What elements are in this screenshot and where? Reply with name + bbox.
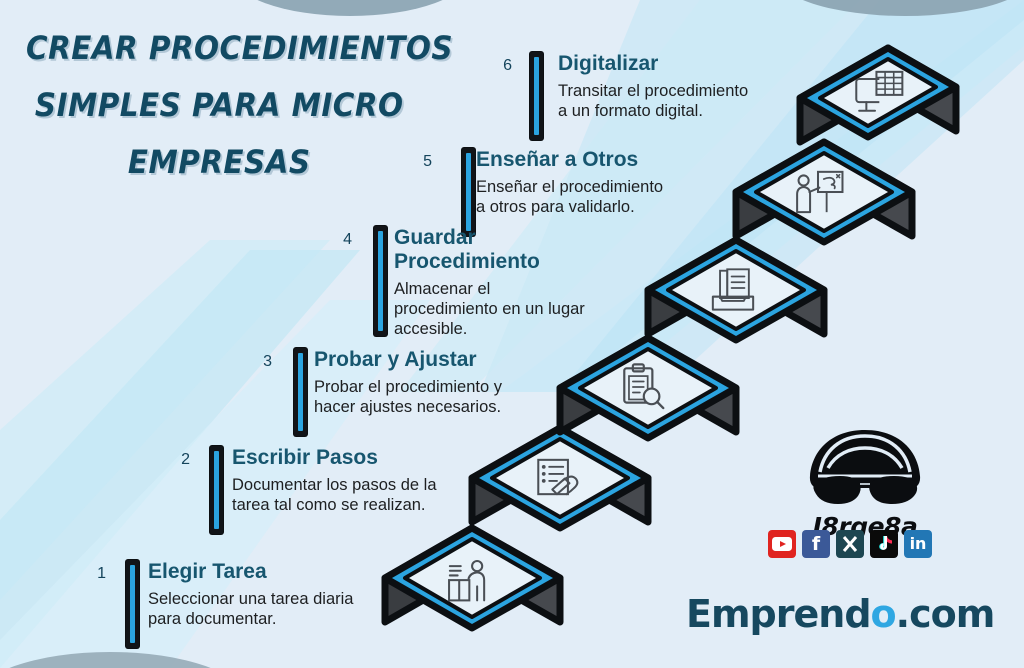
stair-step-4[interactable] bbox=[648, 240, 824, 340]
step-title-3: Probar y Ajustar bbox=[314, 348, 536, 372]
infographic-canvas: CREAR PROCEDIMIENTOS SIMPLES PARA MICRO … bbox=[0, 0, 1024, 668]
step-title-6: Digitalizar bbox=[558, 52, 758, 76]
linkedin-icon[interactable]: in bbox=[904, 530, 932, 558]
step-divider-bar-5 bbox=[462, 148, 475, 236]
step-desc-5: Enseñar el procedimiento a otros para va… bbox=[476, 177, 691, 217]
tiktok-icon[interactable] bbox=[870, 530, 898, 558]
step-title-4: Guardar Procedimiento bbox=[394, 226, 614, 274]
stair-step-5[interactable] bbox=[736, 142, 912, 242]
x-twitter-icon[interactable] bbox=[836, 530, 864, 558]
facebook-icon[interactable]: f bbox=[802, 530, 830, 558]
stair-step-3[interactable] bbox=[560, 338, 736, 438]
stair-step-6[interactable] bbox=[800, 48, 956, 142]
step-number-6: 6 bbox=[488, 57, 512, 75]
step-divider-bar-6 bbox=[530, 52, 543, 140]
step-title-5: Enseñar a Otros bbox=[476, 148, 691, 172]
step-desc-4: Almacenar el procedimiento en un lugar a… bbox=[394, 279, 614, 339]
step-divider-bar-1 bbox=[126, 560, 139, 648]
step-title-1: Elegir Tarea bbox=[148, 560, 373, 584]
step-number-4: 4 bbox=[328, 231, 352, 249]
site-name-pre: Emprend bbox=[686, 592, 871, 636]
cap-sunglasses-icon bbox=[780, 424, 950, 514]
step-desc-3: Probar el procedimiento y hacer ajustes … bbox=[314, 377, 536, 417]
site-logo[interactable]: Emprendo.com bbox=[686, 592, 994, 636]
step-desc-2: Documentar los pasos de la tarea tal com… bbox=[232, 475, 457, 515]
step-desc-6: Transitar el procedimiento a un formato … bbox=[558, 81, 758, 121]
step-title-2: Escribir Pasos bbox=[232, 446, 457, 470]
step-number-3: 3 bbox=[248, 353, 272, 371]
step-divider-bar-3 bbox=[294, 348, 307, 436]
step-number-5: 5 bbox=[408, 153, 432, 171]
site-name-post: .com bbox=[896, 592, 995, 636]
stair-step-1[interactable] bbox=[385, 528, 560, 628]
stair-step-2[interactable] bbox=[472, 428, 648, 528]
step-number-1: 1 bbox=[82, 565, 106, 583]
social-links[interactable]: f in bbox=[768, 530, 964, 558]
site-name-accent-o: o bbox=[871, 592, 896, 636]
step-desc-1: Seleccionar una tarea diaria para docume… bbox=[148, 589, 373, 629]
step-divider-bar-4 bbox=[374, 226, 387, 336]
step-number-2: 2 bbox=[166, 451, 190, 469]
youtube-icon[interactable] bbox=[768, 530, 796, 558]
step-divider-bar-2 bbox=[210, 446, 223, 534]
